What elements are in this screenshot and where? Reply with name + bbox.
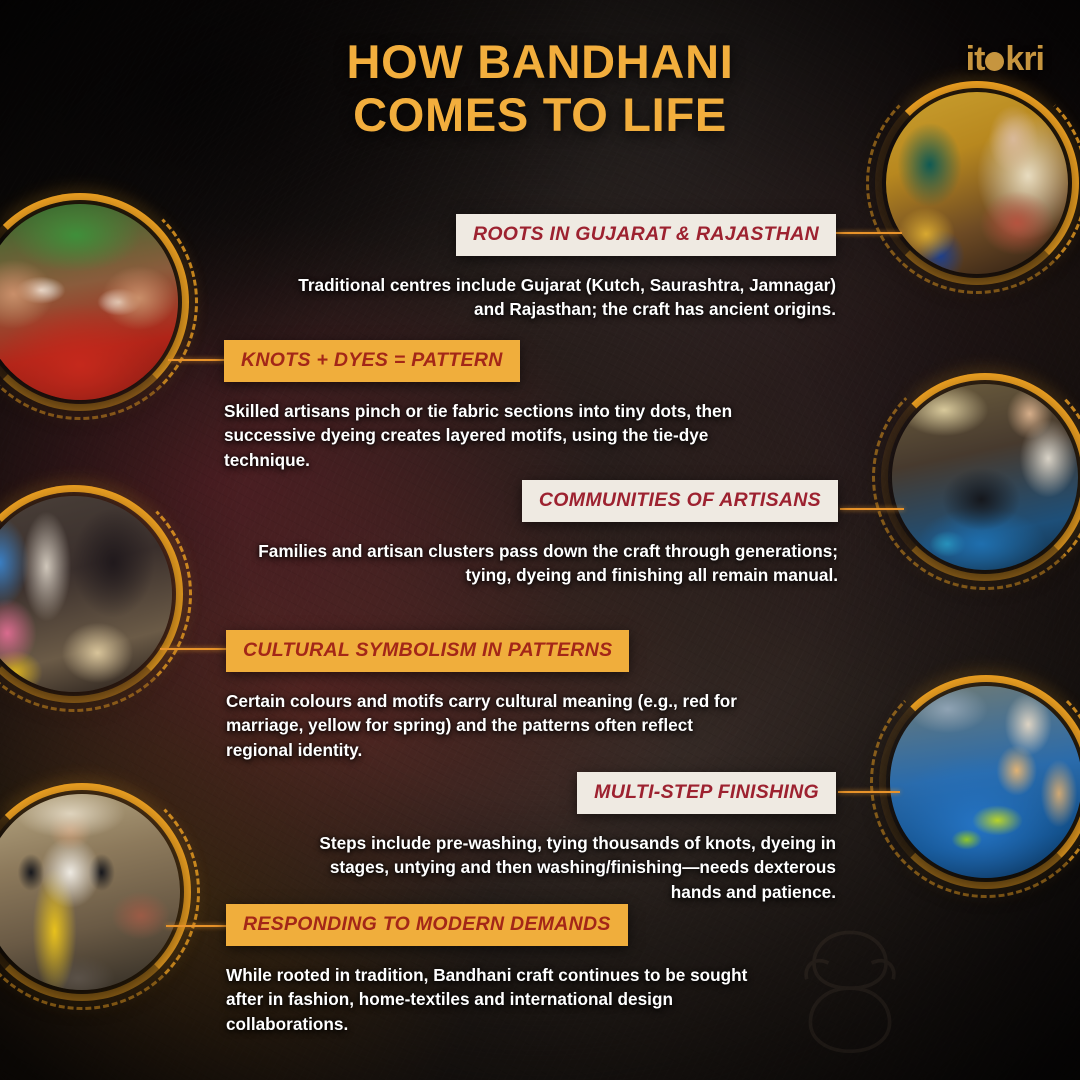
photo-dyer-blue-tub: [892, 384, 1078, 570]
brand-logo-dot-icon: [985, 52, 1004, 71]
section-body-text: Steps include pre-washing, tying thousan…: [316, 831, 836, 904]
section-heading-badge: COMMUNITIES OF ARTISANS: [522, 480, 838, 522]
infographic-poster: HOW BANDHANI COMES TO LIFE it kri: [0, 0, 1080, 1080]
section-multi-step-finishing: MULTI-STEP FINISHING Steps include pre-w…: [316, 772, 836, 904]
connector-line-4: [160, 648, 228, 650]
connector-line-5: [838, 791, 900, 793]
section-communities-of-artisans: COMMUNITIES OF ARTISANS Families and art…: [248, 480, 838, 588]
section-body-text: While rooted in tradition, Bandhani craf…: [226, 963, 786, 1036]
section-knots-dyes-pattern: KNOTS + DYES = PATTERN Skilled artisans …: [224, 340, 736, 472]
page-title-line-2: COMES TO LIFE: [0, 89, 1080, 142]
photo-disc: [0, 204, 178, 400]
photo-dyer-yellow-fabric: [0, 794, 180, 990]
photo-women-artisans-seated: [0, 496, 172, 692]
connector-line-6: [166, 925, 228, 927]
section-body-text: Traditional centres include Gujarat (Kut…: [278, 273, 836, 322]
section-body-text: Families and artisan clusters pass down …: [248, 539, 838, 588]
section-roots-in-gujarat-rajasthan: ROOTS IN GUJARAT & RAJASTHAN Traditional…: [278, 214, 836, 322]
connector-line-1: [836, 232, 902, 234]
connector-line-2: [168, 359, 228, 361]
photo-hands-tying-red-fabric: [0, 204, 178, 400]
photo-dye-vat-bundles: [890, 686, 1080, 878]
photo-disc: [892, 384, 1078, 570]
section-heading-badge: MULTI-STEP FINISHING: [577, 772, 836, 814]
connector-line-3: [840, 508, 904, 510]
photo-disc: [890, 686, 1080, 878]
section-heading-badge: KNOTS + DYES = PATTERN: [224, 340, 520, 382]
photo-disc: [0, 794, 180, 990]
section-heading-badge: ROOTS IN GUJARAT & RAJASTHAN: [456, 214, 836, 256]
section-cultural-symbolism-in-patterns: CULTURAL SYMBOLISM IN PATTERNS Certain c…: [226, 630, 756, 762]
page-title-line-1: HOW BANDHANI: [0, 36, 1080, 89]
brand-logo-itokri[interactable]: it kri: [966, 40, 1044, 79]
brand-logo-text-part2: kri: [1005, 40, 1044, 79]
section-body-text: Certain colours and motifs carry cultura…: [226, 689, 756, 762]
section-heading-badge: RESPONDING TO MODERN DEMANDS: [226, 904, 628, 946]
page-title: HOW BANDHANI COMES TO LIFE: [0, 36, 1080, 141]
section-body-text: Skilled artisans pinch or tie fabric sec…: [224, 399, 736, 472]
photo-disc: [0, 496, 172, 692]
section-responding-to-modern-demands: RESPONDING TO MODERN DEMANDS While roote…: [226, 904, 786, 1036]
brand-logo-text-part1: it: [966, 40, 985, 79]
section-heading-badge: CULTURAL SYMBOLISM IN PATTERNS: [226, 630, 629, 672]
